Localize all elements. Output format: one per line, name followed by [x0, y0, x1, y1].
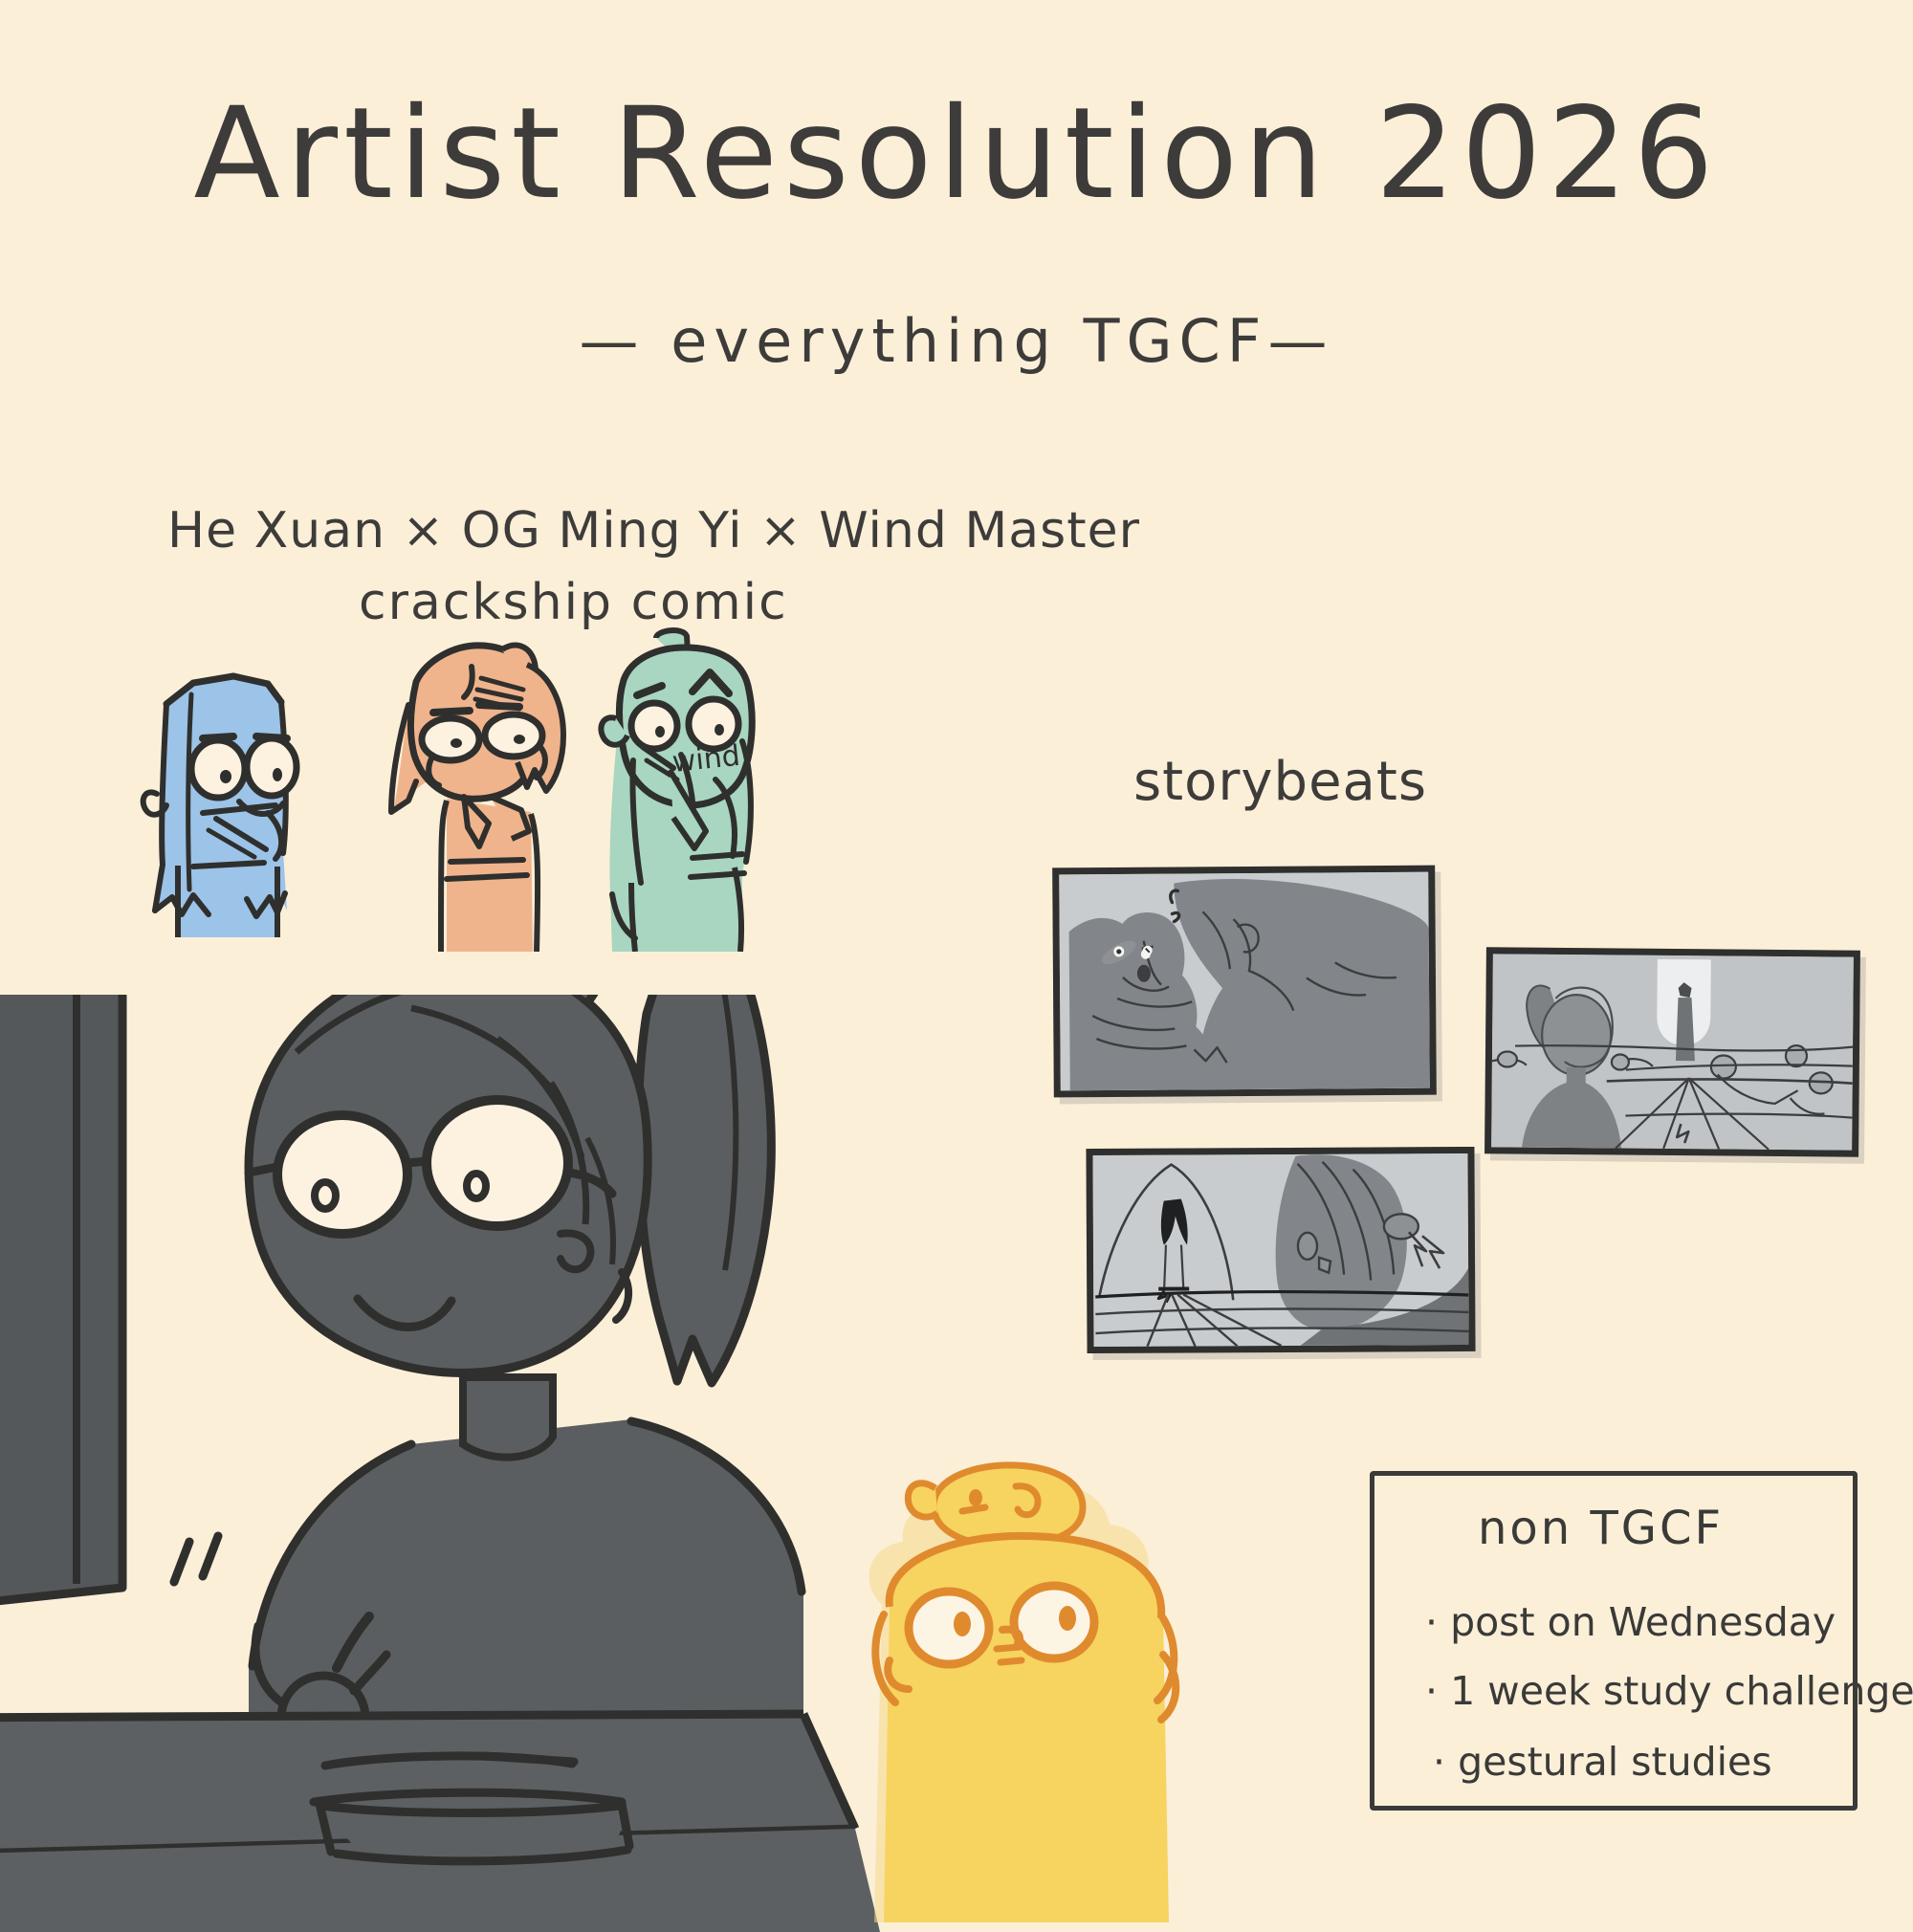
mascot-creature — [842, 1454, 1253, 1922]
wind-label: wind — [671, 739, 741, 779]
storyboard-panel-2 — [1484, 947, 1860, 1156]
non-tgcf-item-0: · post on Wednesday — [1425, 1599, 1836, 1645]
project-note-line-2: crackship comic — [359, 574, 788, 631]
monitor — [0, 995, 122, 1607]
project-note-line-1: He Xuan × OG Ming Yi × Wind Master — [167, 502, 1140, 560]
page-subtitle: — everything TGCF— — [0, 306, 1913, 376]
character-sketch-wind-master: wind — [574, 626, 794, 952]
non-tgcf-item-2: · gestural studies — [1433, 1739, 1772, 1785]
non-tgcf-title: non TGCF — [1478, 1502, 1724, 1555]
storybeats-heading: storybeats — [1133, 751, 1427, 813]
character-sketch-og-ming-yi — [359, 636, 579, 952]
character-sketch-he-xuan — [134, 660, 325, 937]
page-title: Artist Resolution 2026 — [0, 91, 1913, 217]
comic-canvas: Artist Resolution 2026 — everything TGCF… — [0, 0, 1913, 1913]
artist-figure — [174, 995, 803, 1760]
non-tgcf-item-1: · 1 week study challenge? — [1425, 1668, 1913, 1714]
